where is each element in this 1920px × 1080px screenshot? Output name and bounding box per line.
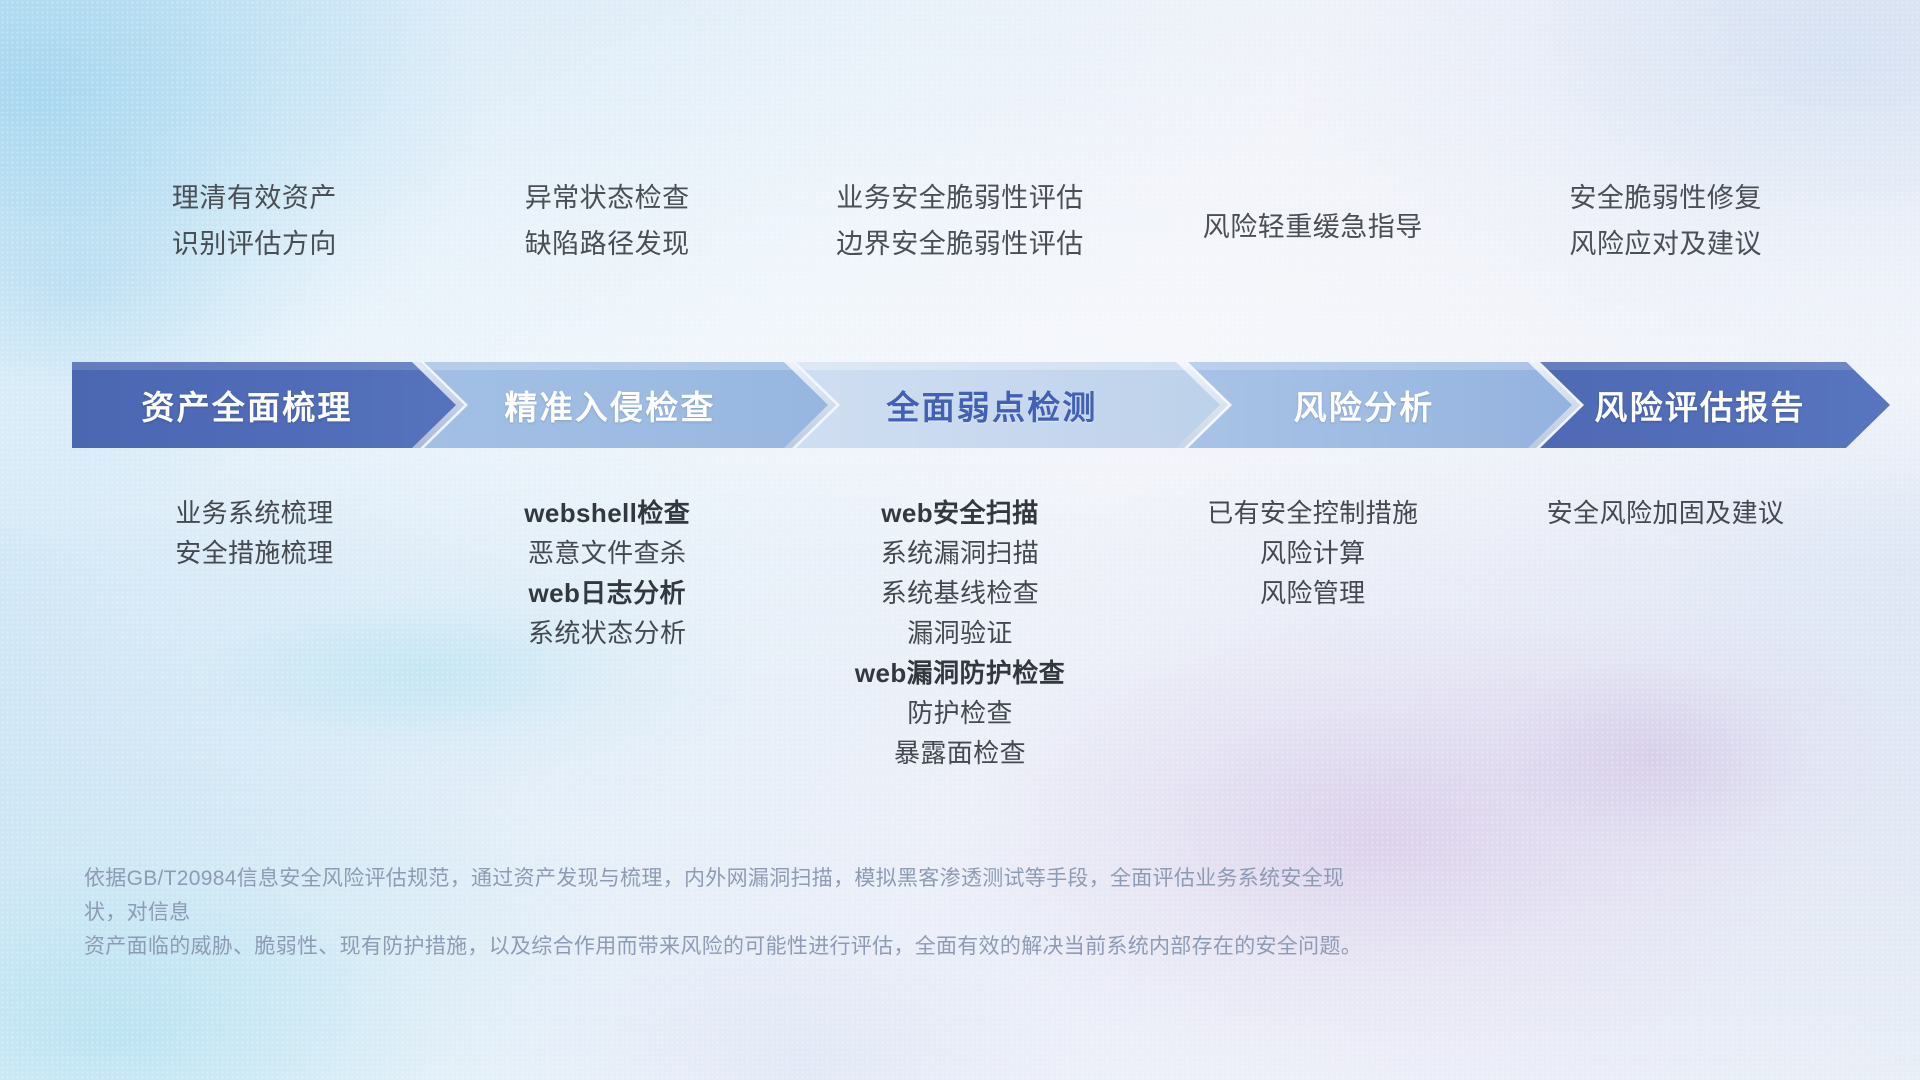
detail-item: 暴露面检查 (894, 740, 1026, 766)
bottom-column-2: webshell检查 恶意文件查杀 web日志分析 系统状态分析 (431, 500, 784, 780)
top-item: 风险轻重缓急指导 (1203, 214, 1423, 241)
top-column-3: 业务安全脆弱性评估 边界安全脆弱性评估 (784, 185, 1137, 277)
top-column-1: 理清有效资产 识别评估方向 (78, 185, 431, 277)
detail-item: 防护检查 (907, 700, 1013, 726)
top-item: 异常状态检查 (525, 185, 690, 212)
detail-item: web安全扫描 (881, 500, 1038, 526)
bottom-column-4: 已有安全控制措施 风险计算 风险管理 (1136, 500, 1489, 780)
bottom-column-1: 业务系统梳理 安全措施梳理 (78, 500, 431, 780)
top-item: 安全脆弱性修复 (1569, 185, 1762, 212)
top-item: 业务安全脆弱性评估 (836, 185, 1084, 212)
bottom-detail-row: 业务系统梳理 安全措施梳理 webshell检查 恶意文件查杀 web日志分析 … (0, 500, 1920, 780)
detail-item: 系统状态分析 (528, 620, 686, 646)
top-descriptor-row: 理清有效资产 识别评估方向 异常状态检查 缺陷路径发现 业务安全脆弱性评估 边界… (0, 185, 1920, 277)
bottom-column-3: web安全扫描 系统漏洞扫描 系统基线检查 漏洞验证 web漏洞防护检查 防护检… (784, 500, 1137, 780)
detail-item: web日志分析 (529, 580, 686, 606)
detail-item: 系统基线检查 (881, 580, 1039, 606)
stage-label: 资产全面梳理 (141, 381, 352, 429)
detail-item: 系统漏洞扫描 (881, 540, 1039, 566)
detail-item: web漏洞防护检查 (855, 660, 1065, 686)
stage-label: 风险分析 (1294, 381, 1435, 429)
detail-item: 风险计算 (1260, 540, 1366, 566)
detail-item: 安全风险加固及建议 (1547, 500, 1785, 526)
top-item: 缺陷路径发现 (525, 231, 690, 258)
detail-item: 已有安全控制措施 (1207, 500, 1418, 526)
stage-label: 全面弱点检测 (886, 381, 1097, 429)
top-item: 识别评估方向 (172, 231, 337, 258)
stage-chevron-risk-analysis[interactable]: 风险分析 (1188, 362, 1580, 448)
top-item: 边界安全脆弱性评估 (836, 231, 1084, 258)
detail-item: 漏洞验证 (907, 620, 1013, 646)
top-column-2: 异常状态检查 缺陷路径发现 (431, 185, 784, 277)
footer-line-2: 资产面临的威胁、脆弱性、现有防护措施，以及综合作用而带来风险的可能性进行评估，全… (84, 930, 1384, 964)
detail-item: 安全措施梳理 (175, 540, 333, 566)
detail-item: webshell检查 (524, 500, 690, 526)
footer-line-1: 依据GB/T20984信息安全风险评估规范，通过资产发现与梳理，内外网漏洞扫描，… (84, 862, 1384, 930)
top-column-4: 风险轻重缓急指导 (1136, 185, 1489, 277)
detail-item: 业务系统梳理 (175, 500, 333, 526)
stage-chevron-asset-inventory[interactable]: 资产全面梳理 (72, 362, 464, 448)
footer-description: 依据GB/T20984信息安全风险评估规范，通过资产发现与梳理，内外网漏洞扫描，… (84, 862, 1384, 964)
stage-chevron-risk-report[interactable]: 风险评估报告 (1540, 362, 1890, 448)
stage-label: 风险评估报告 (1594, 381, 1805, 429)
top-item: 理清有效资产 (172, 185, 337, 212)
top-item: 风险应对及建议 (1569, 231, 1762, 258)
top-column-5: 安全脆弱性修复 风险应对及建议 (1489, 185, 1842, 277)
detail-item: 风险管理 (1260, 580, 1366, 606)
stage-chevron-weakness-detection[interactable]: 全面弱点检测 (796, 362, 1228, 448)
stage-chevron-intrusion-check[interactable]: 精准入侵检查 (424, 362, 836, 448)
detail-item: 恶意文件查杀 (528, 540, 686, 566)
process-chevron-banner: 资产全面梳理 (72, 362, 1850, 448)
bottom-column-5: 安全风险加固及建议 (1489, 500, 1842, 780)
stage-label: 精准入侵检查 (504, 381, 715, 429)
